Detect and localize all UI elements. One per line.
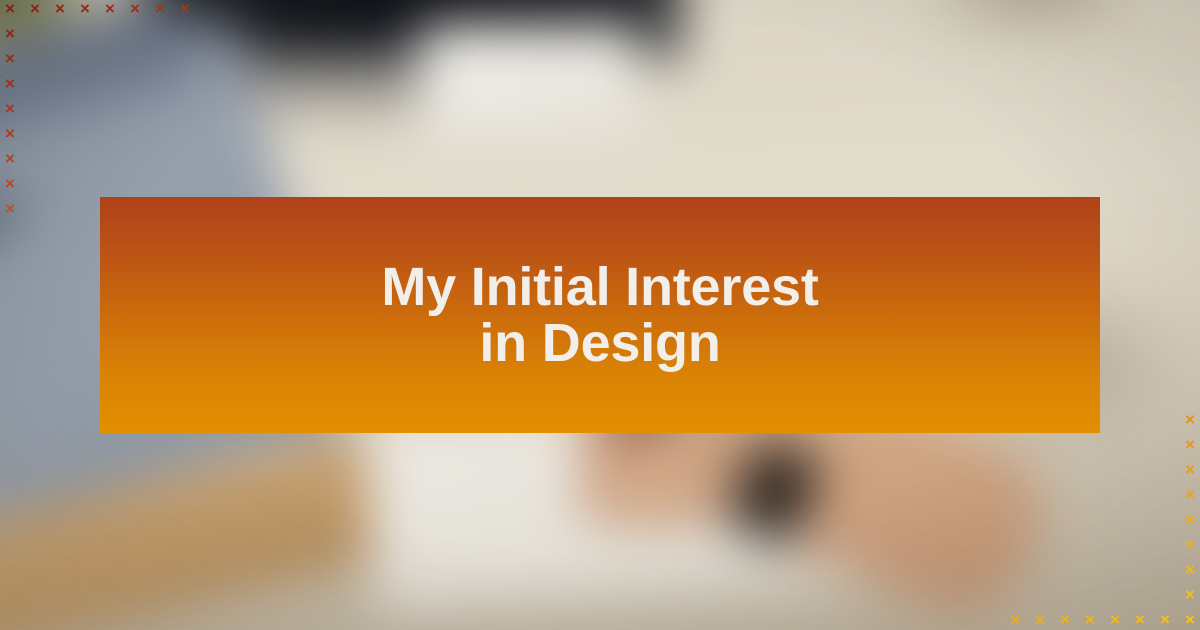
page-title-line-1: My Initial Interest (381, 257, 818, 317)
screenshot-canvas: ×××××××××××××××× ×××××××××××××××× My Ini… (0, 0, 1200, 630)
page-title-line-2: in Design (479, 313, 720, 373)
title-banner: My Initial Interestin Design (100, 197, 1100, 433)
page-title: My Initial Interestin Design (381, 259, 818, 371)
